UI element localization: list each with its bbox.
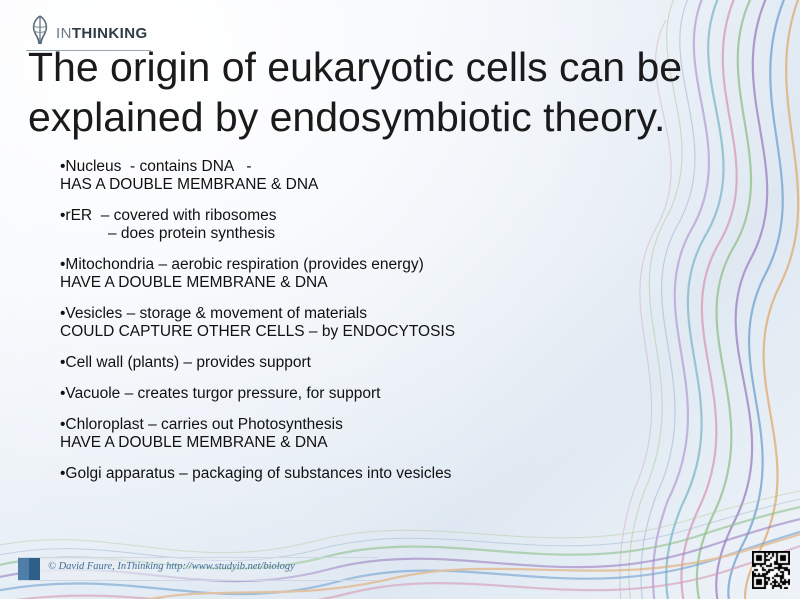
list-item-line2: HAVE A DOUBLE MEMBRANE & DNA [60,274,760,292]
list-item: •Vacuole – creates turgor pressure, for … [60,385,760,403]
list-item-line2: HAS A DOUBLE MEMBRANE & DNA [60,176,760,194]
list-item: •Nucleus - contains DNA - HAS A DOUBLE M… [60,158,760,194]
list-item-line1: •Vesicles – storage & movement of materi… [60,305,760,323]
footer-credit: © David Faure, InThinking http://www.stu… [48,561,295,572]
list-item-line1: •rER – covered with ribosomes [60,207,760,225]
page-title: The origin of eukaryotic cells can be ex… [28,42,758,142]
list-item-line1: •Cell wall (plants) – provides support [60,354,760,372]
list-item: •Mitochondria – aerobic respiration (pro… [60,256,760,292]
list-item: •Chloroplast – carries out Photosynthesi… [60,416,760,452]
list-item: •Golgi apparatus – packaging of substanc… [60,465,760,483]
footer-bar: © David Faure, InThinking http://www.stu… [18,557,378,581]
bullet-list: •Nucleus - contains DNA - HAS A DOUBLE M… [60,158,760,496]
list-item-line1: •Chloroplast – carries out Photosynthesi… [60,416,760,434]
list-item-line2: HAVE A DOUBLE MEMBRANE & DNA [60,434,760,452]
logo-text: INTHINKING [56,25,148,42]
list-item-line1: •Nucleus - contains DNA - [60,158,760,176]
list-item-line2: COULD CAPTURE OTHER CELLS – by ENDOCYTOS… [60,323,760,341]
list-item-line1: •Golgi apparatus – packaging of substanc… [60,465,760,483]
list-item-line1: •Mitochondria – aerobic respiration (pro… [60,256,760,274]
list-item-line1: •Vacuole – creates turgor pressure, for … [60,385,760,403]
list-item: •rER – covered with ribosomes – does pro… [60,207,760,243]
logo-text-in: IN [56,25,72,42]
list-item-line2: – does protein synthesis [60,225,760,243]
slide-canvas: INTHINKING The origin of eukaryotic cell… [0,0,800,599]
list-item: •Vesicles – storage & movement of materi… [60,305,760,341]
footer-square-light [18,558,29,580]
qr-code-icon [752,551,790,589]
list-item: •Cell wall (plants) – provides support [60,354,760,372]
logo-text-thinking: THINKING [72,25,148,42]
